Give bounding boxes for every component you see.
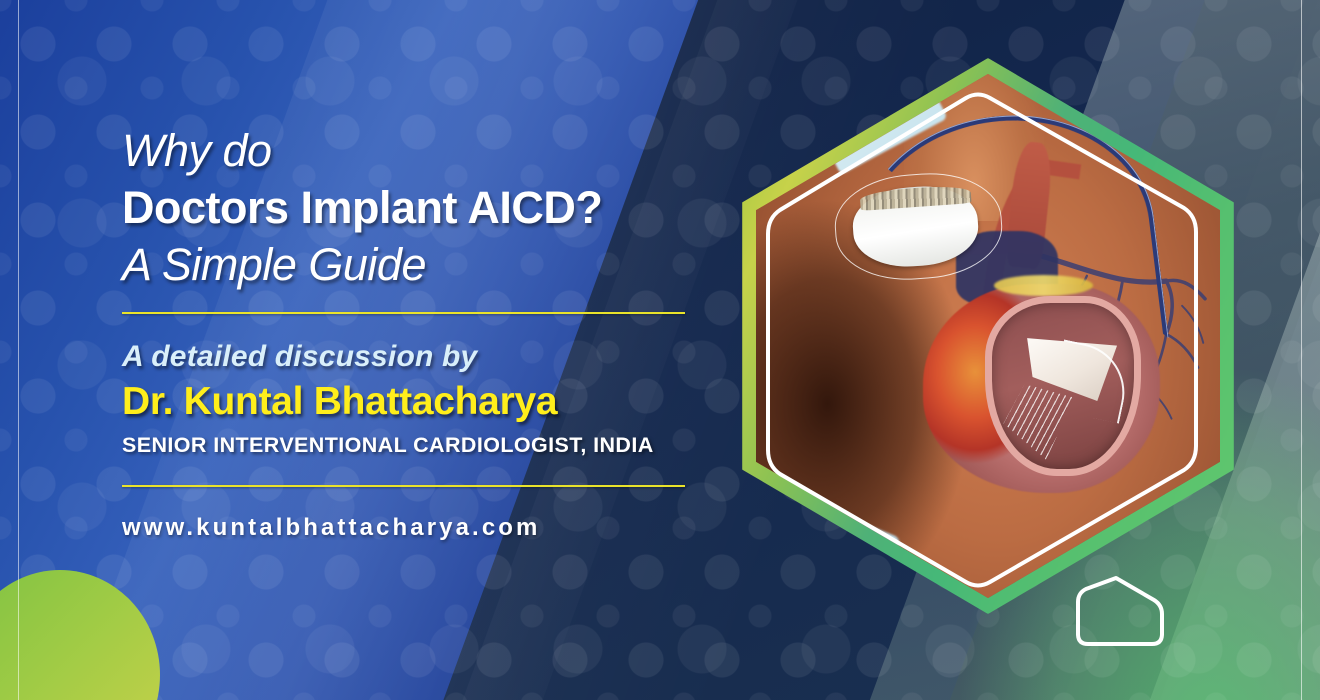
doctor-credential: SENIOR INTERVENTIONAL CARDIOLOGIST, INDI… xyxy=(122,433,722,458)
headline-line-1: Why do xyxy=(122,128,722,174)
heart-cutaway xyxy=(923,284,1160,494)
headline-line-2: Doctors Implant AICD? xyxy=(122,185,722,231)
aicd-illustration-image xyxy=(756,74,1220,598)
hexagon-artwork xyxy=(742,58,1234,614)
right-border-rule xyxy=(1301,0,1302,700)
website-url[interactable]: www.kuntalbhattacharya.com xyxy=(122,514,722,542)
text-content-block: Why do Doctors Implant AICD? A Simple Gu… xyxy=(122,128,722,542)
divider-bottom xyxy=(122,485,685,487)
doctor-name: Dr. Kuntal Bhattacharya xyxy=(122,380,722,424)
promotional-banner: Why do Doctors Implant AICD? A Simple Gu… xyxy=(0,0,1320,700)
left-border-rule xyxy=(18,0,19,700)
headline-line-3: A Simple Guide xyxy=(122,242,722,288)
byline-label: A detailed discussion by xyxy=(122,340,722,374)
divider-top xyxy=(122,312,685,314)
